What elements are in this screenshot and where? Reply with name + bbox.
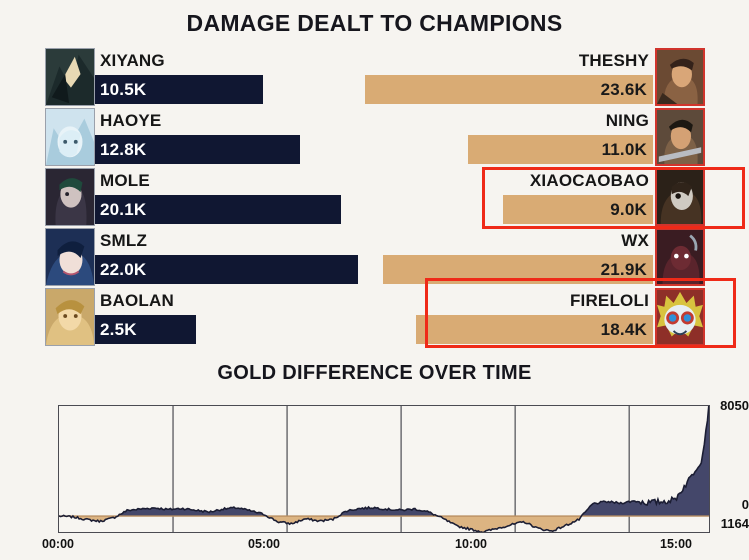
table-row[interactable]: BAOLAN 2.5K [40,288,400,346]
player-name: XIAOCAOBAO [530,170,649,192]
table-row[interactable]: WX 21.9K [349,228,709,286]
champion-portrait-icon[interactable] [655,228,705,286]
x-axis-tick: 15:00 [646,537,706,551]
champion-portrait-icon[interactable] [45,108,95,166]
gold-difference-area-plot [59,406,709,532]
player-name: THESHY [579,50,649,72]
blue-team-list: XIYANG 10.5K HAOYE 12.8K [40,48,400,353]
gold-panel-title: GOLD DIFFERENCE OVER TIME [0,362,749,385]
x-axis-tick: 05:00 [234,537,294,551]
champion-portrait-icon[interactable] [45,168,95,226]
damage-panel-title: DAMAGE DEALT TO CHAMPIONS [0,10,749,37]
damage-value: 9.0K [610,197,647,222]
table-row[interactable]: FIRELOLI 18.4K [349,288,709,346]
table-row[interactable]: XIYANG 10.5K [40,48,400,106]
player-name: XIYANG [100,50,165,72]
damage-value: 21.9K [601,257,647,282]
champion-portrait-icon[interactable] [655,288,705,346]
gold-difference-chart: 8050 0 1164 00:00 05:00 10:00 15:00 20:0… [0,392,749,560]
damage-value: 2.5K [100,317,137,342]
player-name: MOLE [100,170,150,192]
damage-value: 20.1K [100,197,146,222]
table-row[interactable]: THESHY 23.6K [349,48,709,106]
champion-portrait-icon[interactable] [655,168,705,226]
x-axis-tick: 10:00 [441,537,501,551]
player-name: NING [606,110,649,132]
damage-value: 11.0K [602,137,647,162]
champion-portrait-icon[interactable] [45,228,95,286]
damage-value: 10.5K [100,77,146,102]
table-row[interactable]: MOLE 20.1K [40,168,400,226]
damage-value: 23.6K [601,77,647,102]
player-name: WX [621,230,649,252]
player-name: HAOYE [100,110,161,132]
champion-portrait-icon[interactable] [45,288,95,346]
table-row[interactable]: NING 11.0K [349,108,709,166]
table-row[interactable]: SMLZ 22.0K [40,228,400,286]
player-name: FIRELOLI [570,290,649,312]
champion-portrait-icon[interactable] [45,48,95,106]
damage-dealt-panel: XIYANG 10.5K HAOYE 12.8K [0,48,749,353]
chart-plot-area [58,405,710,533]
area-positive [59,406,709,532]
red-team-list: THESHY 23.6K NING 11.0K [349,48,709,353]
table-row[interactable]: XIAOCAOBAO 9.0K [349,168,709,226]
x-axis-tick: 00:00 [28,537,88,551]
damage-value: 18.4K [601,317,647,342]
player-name: SMLZ [100,230,147,252]
damage-value: 12.8K [100,137,146,162]
match-stats-screen: DAMAGE DEALT TO CHAMPIONS XIYANG 10.5K [0,0,749,560]
champion-portrait-icon[interactable] [655,108,705,166]
table-row[interactable]: HAOYE 12.8K [40,108,400,166]
damage-value: 22.0K [100,257,146,282]
champion-portrait-icon[interactable] [655,48,705,106]
player-name: BAOLAN [100,290,174,312]
